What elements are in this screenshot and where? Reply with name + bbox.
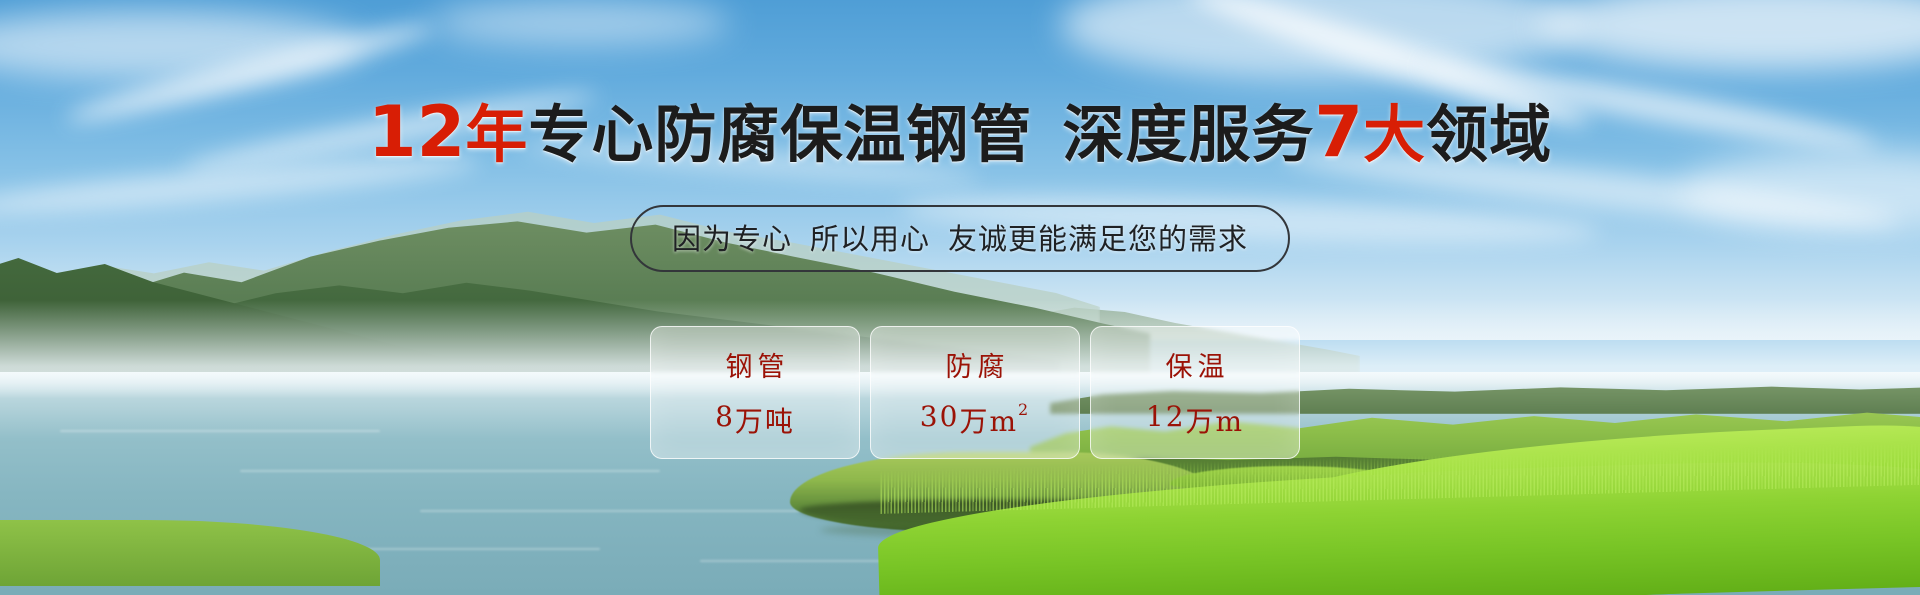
stat-card-steel-pipe[interactable]: 钢管 8 万吨 bbox=[650, 326, 860, 459]
headline-years-unit: 年 bbox=[465, 98, 528, 171]
water-ripple bbox=[240, 470, 660, 472]
stat-value-unit: 万吨 bbox=[735, 400, 795, 440]
headline-years-number: 12 bbox=[368, 91, 465, 173]
stat-value-superscript: 2 bbox=[1018, 402, 1030, 418]
stat-card-value: 30 万m 2 bbox=[920, 400, 1030, 440]
stat-card-insulation[interactable]: 保温 12 万m bbox=[1090, 326, 1300, 459]
headline-fields-text: 领域 bbox=[1426, 98, 1552, 171]
water-ripple bbox=[60, 430, 380, 432]
headline-fields-number: 7 bbox=[1314, 91, 1363, 173]
stat-value-unit: 万m bbox=[1186, 400, 1245, 440]
tagline-part-1: 因为专心 bbox=[672, 222, 792, 256]
stat-value-number: 8 bbox=[715, 400, 735, 433]
tagline-part-3: 友诚更能满足您的需求 bbox=[948, 222, 1248, 256]
stat-card-group: 钢管 8 万吨 防腐 30 万m 2 保温 12 万m bbox=[650, 326, 1300, 459]
banner-headline: 12年专心防腐保温钢管深度服务7大领域 bbox=[0, 84, 1920, 174]
stat-value-number: 30 bbox=[920, 400, 960, 433]
stat-card-title: 防腐 bbox=[941, 345, 1010, 384]
tagline-part-2: 所以用心 bbox=[810, 222, 930, 256]
stat-card-title: 保温 bbox=[1161, 345, 1230, 384]
headline-main-text: 专心防腐保温钢管 bbox=[528, 98, 1032, 171]
stat-card-title: 钢管 bbox=[721, 345, 790, 384]
headline-fields-unit: 大 bbox=[1363, 98, 1426, 171]
water-ripple bbox=[420, 510, 800, 512]
stat-card-value: 12 万m bbox=[1146, 400, 1244, 440]
stat-value-number: 12 bbox=[1146, 400, 1186, 433]
hero-banner: 12年专心防腐保温钢管深度服务7大领域 因为专心所以用心友诚更能满足您的需求 钢… bbox=[0, 0, 1920, 595]
tagline-capsule: 因为专心所以用心友诚更能满足您的需求 bbox=[630, 205, 1290, 272]
headline-service-text: 深度服务 bbox=[1062, 98, 1314, 171]
stat-card-anticorrosion[interactable]: 防腐 30 万m 2 bbox=[870, 326, 1080, 459]
stat-card-value: 8 万吨 bbox=[715, 400, 795, 440]
stat-value-unit: 万m bbox=[959, 400, 1018, 440]
